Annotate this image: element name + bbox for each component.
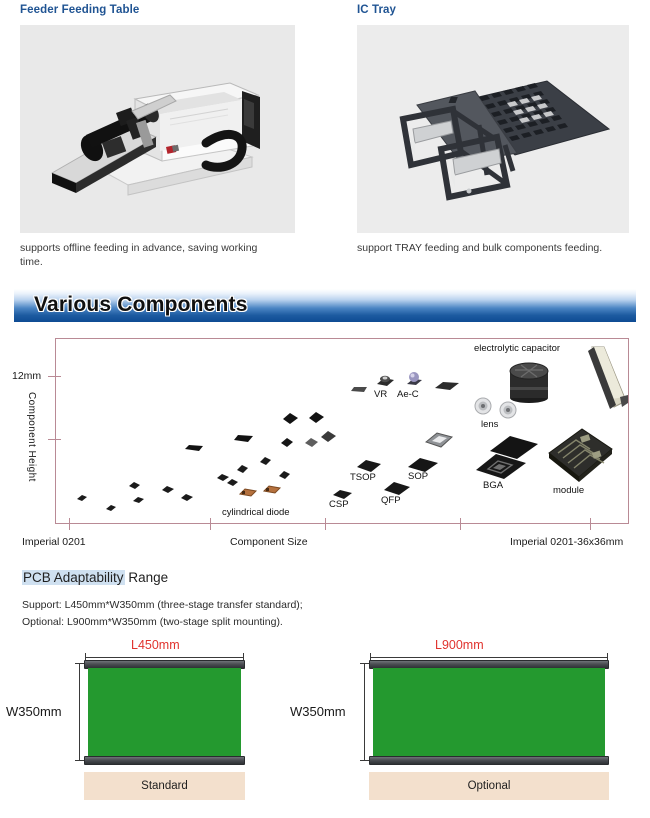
ic-tray-illustration <box>357 25 629 233</box>
x-tick-mark-2 <box>210 518 211 530</box>
pcb-rail-bottom-standard <box>84 756 245 765</box>
card-caption-ic-tray: support TRAY feeding and bulk components… <box>357 241 617 255</box>
x-tick-mark-4 <box>460 518 461 530</box>
chart-point-chip <box>128 477 141 495</box>
card-feeder-feeding-table: Feeder Feeding Table <box>20 0 295 269</box>
chart-point-chip <box>308 411 325 429</box>
chart-point-chip <box>282 412 299 430</box>
pcb-footer-optional: Optional <box>369 772 609 800</box>
chart-point-chip <box>180 489 194 507</box>
pcb-figure-optional: L900mm W350mm Optional <box>325 630 650 818</box>
x-tick-mark-5 <box>590 518 591 530</box>
feeder-illustration <box>20 25 295 233</box>
chart-point-electrolytic-capacitor <box>508 357 550 408</box>
chart-label-ae-c: Ae-C <box>397 389 419 400</box>
chart-point-chip <box>76 489 88 507</box>
chart-point-chip <box>105 499 117 517</box>
chart-point-connector <box>586 345 630 416</box>
chart-point-optical-part <box>424 431 454 454</box>
chart-point-chip <box>161 481 175 499</box>
chart-point-chip <box>320 430 337 448</box>
chart-label-sop: SOP <box>408 471 428 482</box>
components-chart: 12mm Component Height <box>0 330 650 560</box>
chart-label-electrolytic-capacitor: electrolytic capacitor <box>474 343 560 354</box>
pcb-figure-standard: L450mm W350mm Standard <box>0 630 325 818</box>
chart-label-csp: CSP <box>329 499 349 510</box>
chart-label-vr: VR <box>374 389 387 400</box>
x-axis-label-left: Imperial 0201 <box>22 536 86 548</box>
pcb-length-label-optional: L900mm <box>435 638 484 652</box>
pcb-width-dim-end-bottom <box>75 760 84 761</box>
chart-label-lens: lens <box>481 419 498 430</box>
chart-label-cylindrical-diode: cylindrical diode <box>222 507 290 518</box>
y-tick-label-12mm: 12mm <box>12 370 41 382</box>
pcb-title-rest: Range <box>125 570 169 585</box>
chart-plot-area: cylindrical diode <box>55 338 629 524</box>
chart-point-chip <box>280 435 294 453</box>
chart-point-chip <box>232 430 254 448</box>
pcb-footer-standard: Standard <box>84 772 245 800</box>
pcb-width-label-optional: W350mm <box>290 704 346 719</box>
chart-point-chip <box>304 435 319 453</box>
pcb-width-label-standard: W350mm <box>6 704 62 719</box>
chart-point-chip <box>236 461 249 479</box>
pcb-rail-bottom-optional <box>369 756 609 765</box>
chart-point-module <box>546 427 614 490</box>
banner-title: Various Components <box>34 292 248 318</box>
card-title-ic-tray: IC Tray <box>357 3 629 17</box>
chart-point-chip <box>434 379 460 397</box>
pcb-board-standard <box>88 668 241 758</box>
pcb-support-line: Support: L450mm*W350mm (three-stage tran… <box>22 598 303 613</box>
chart-label-tsop: TSOP <box>350 472 376 483</box>
x-tick-mark-1 <box>69 518 70 530</box>
x-axis-label: Component Size <box>230 536 308 548</box>
pcb-optional-line: Optional: L900mm*W350mm (two-stage split… <box>22 615 283 630</box>
y-axis-label: Component Height <box>26 392 37 482</box>
product-cards-row: Feeder Feeding Table <box>0 0 650 282</box>
pcb-width-dimline-optional <box>364 663 365 761</box>
pcb-width-dim-end-top <box>75 663 84 664</box>
pcb-width-dim-end-top <box>360 663 369 664</box>
pcb-width-dimline-standard <box>79 663 80 761</box>
page-root: Feeder Feeding Table <box>0 0 650 818</box>
chart-point-chip <box>350 381 368 399</box>
ic-tray-photo <box>357 25 629 233</box>
chart-label-qfp: QFP <box>381 495 401 506</box>
x-axis-label-right: Imperial 0201-36x36mm <box>510 536 623 548</box>
pcb-length-dimline-standard <box>85 657 244 658</box>
chart-point-chip <box>259 453 272 471</box>
card-ic-tray: IC Tray <box>357 0 629 255</box>
pcb-length-label-standard: L450mm <box>131 638 180 652</box>
pcb-section-title: PCB Adaptability Range <box>22 569 168 586</box>
pcb-length-dimline-optional <box>370 657 608 658</box>
chart-point-cylindrical-diode <box>238 485 258 503</box>
chart-point-chip <box>278 467 291 485</box>
chart-label-bga: BGA <box>483 480 503 491</box>
chart-label-module: module <box>553 485 584 496</box>
chart-point-chip <box>184 439 204 457</box>
pcb-title-highlight: PCB Adaptability <box>22 570 125 585</box>
feeder-feeding-table-photo <box>20 25 295 233</box>
pcb-width-dim-end-bottom <box>360 760 369 761</box>
pcb-board-optional <box>373 668 605 758</box>
card-caption-feeder: supports offline feeding in advance, sav… <box>20 241 273 269</box>
x-tick-mark-3 <box>325 518 326 530</box>
card-title-feeder: Feeder Feeding Table <box>20 3 295 17</box>
chart-point-lens <box>474 397 492 420</box>
